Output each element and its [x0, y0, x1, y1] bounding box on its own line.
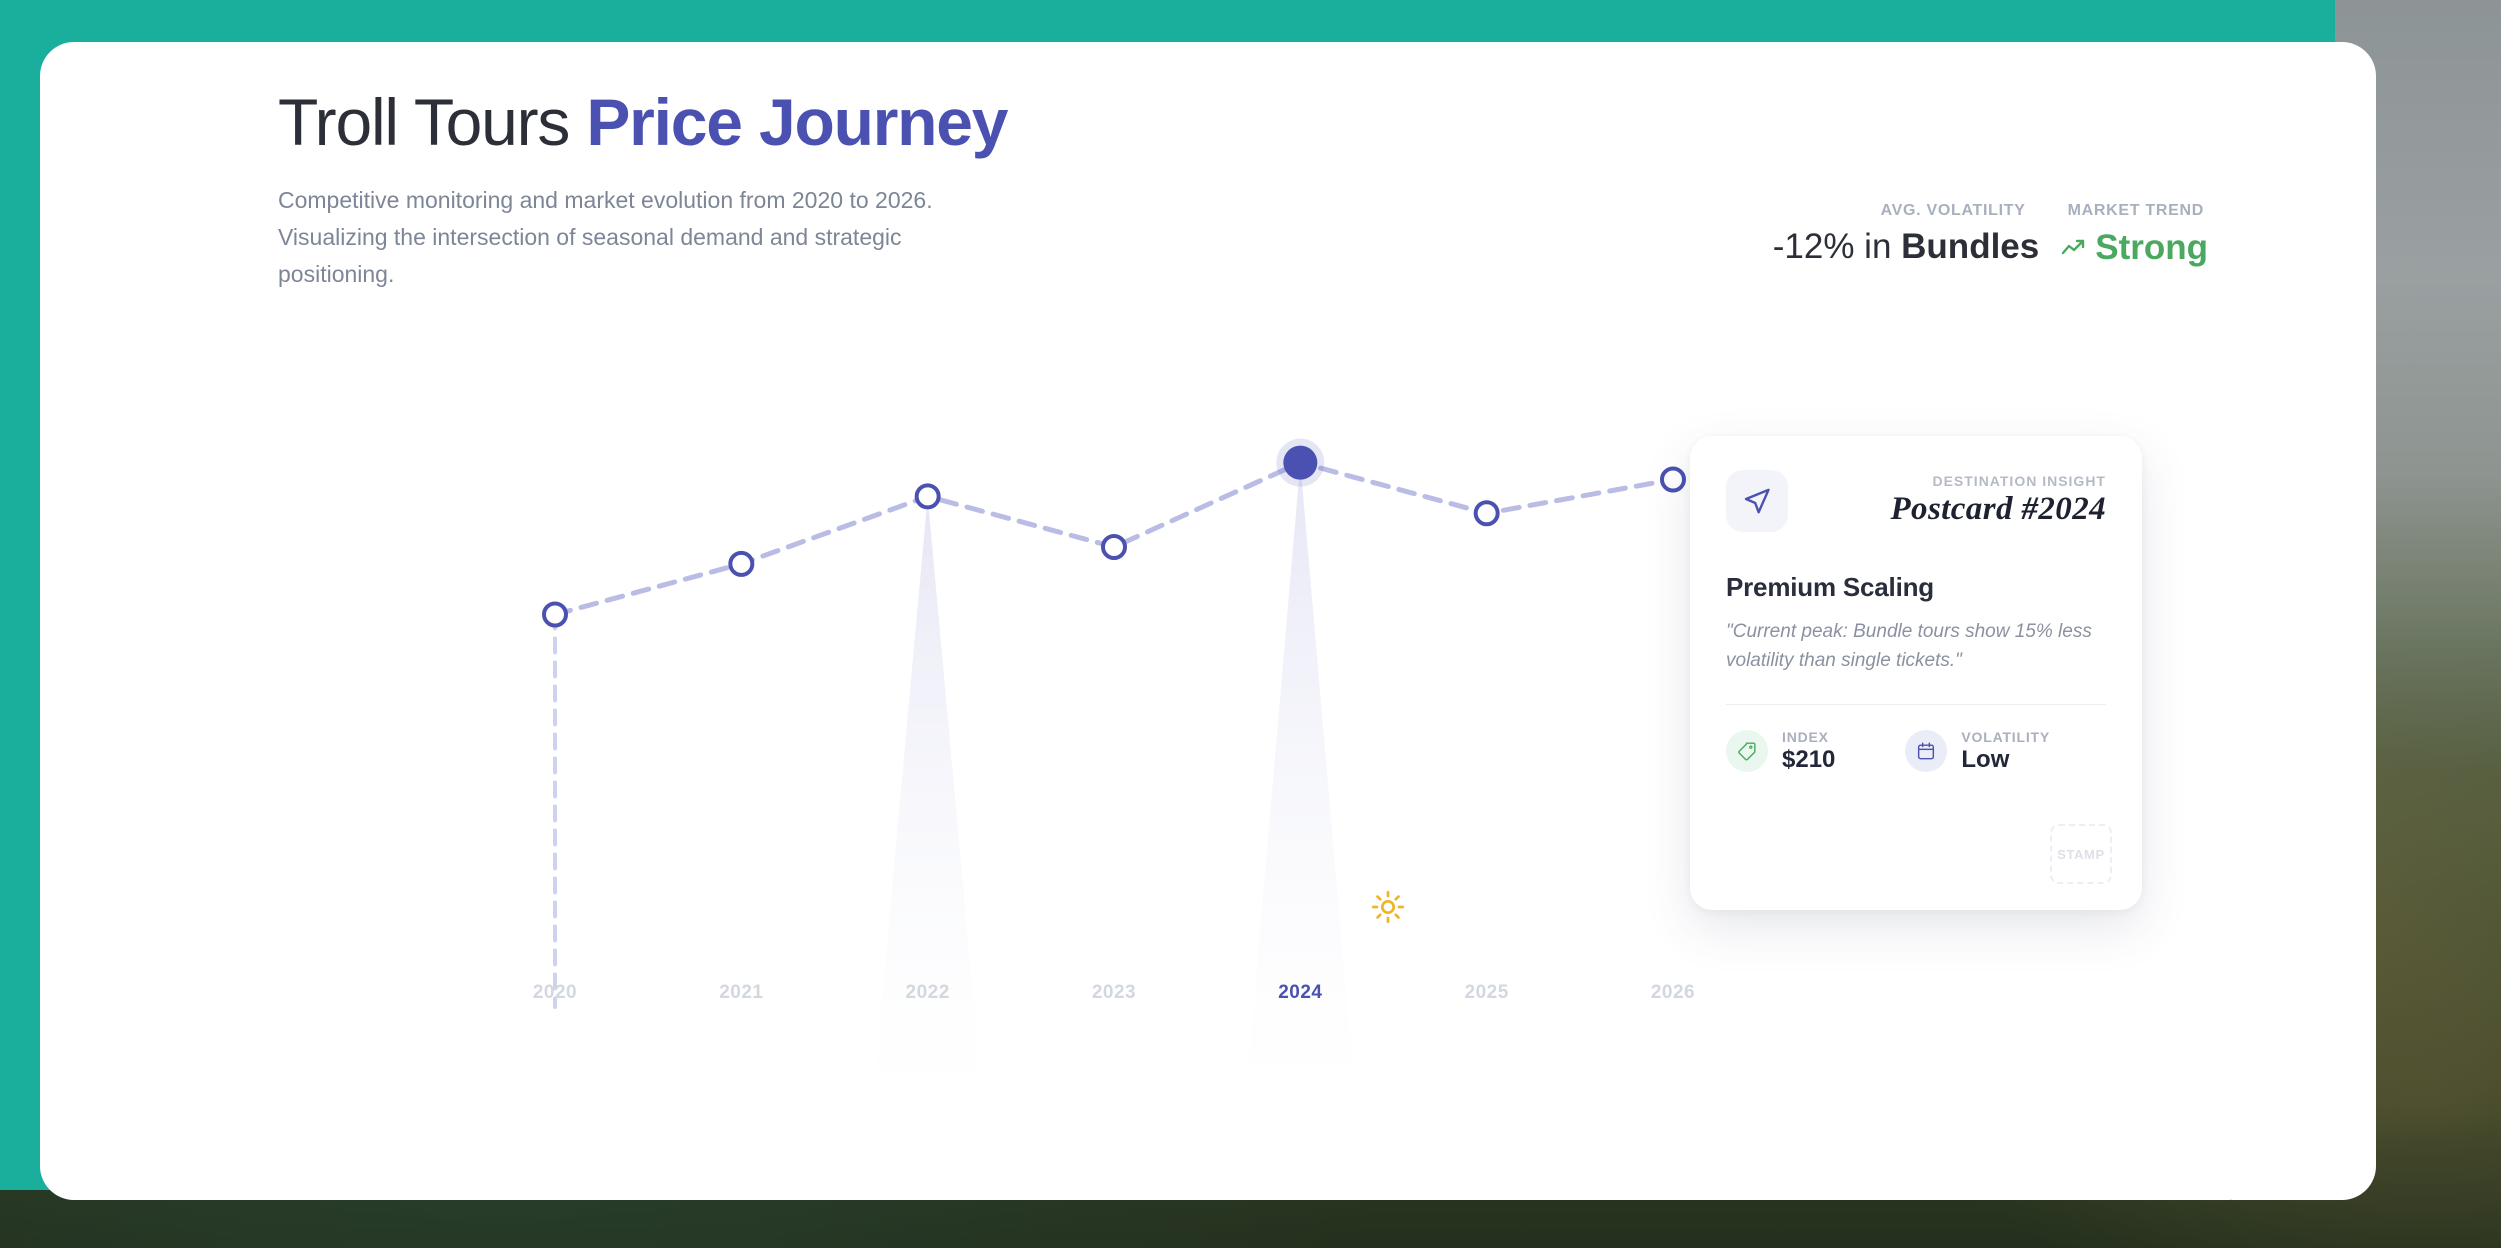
- page-title-accent: Price Journey: [586, 85, 1007, 159]
- kpi-trend-label: Strong: [2095, 228, 2208, 268]
- postcard-title: Premium Scaling: [1726, 572, 2106, 603]
- postcard-quote: "Current peak: Bundle tours show 15% les…: [1726, 617, 2106, 676]
- axis-tick-2025[interactable]: 2025: [1465, 982, 1509, 1004]
- axis-tick-2024[interactable]: 2024: [1278, 982, 1322, 1004]
- axis-tick-2021[interactable]: 2021: [719, 982, 763, 1004]
- postcard-divider: [1726, 704, 2106, 705]
- page-title-plain: Troll Tours: [278, 85, 586, 159]
- chart-beam-glow: [873, 496, 983, 1102]
- kpi-values: -12% in Bundles Strong: [1773, 227, 2208, 268]
- postcard-number: Postcard #2024: [1890, 491, 2106, 528]
- chart-marker[interactable]: [730, 553, 752, 575]
- header-block: Troll Tours Price Journey Competitive mo…: [278, 84, 1578, 294]
- tag-icon: [1726, 730, 1768, 772]
- postcard-insight-card[interactable]: DESTINATION INSIGHT Postcard #2024 Premi…: [1690, 436, 2142, 910]
- kpi-value-volatility: -12% in Bundles: [1773, 227, 2039, 267]
- chart-marker[interactable]: [544, 604, 566, 626]
- axis-tick-2023[interactable]: 2023: [1092, 982, 1136, 1004]
- main-panel: Troll Tours Price Journey Competitive mo…: [40, 42, 2376, 1200]
- kpi-volatility-strong: Bundles: [1901, 227, 2039, 266]
- page-title: Troll Tours Price Journey: [278, 84, 1578, 162]
- postcard-metric-volatility-label: VOLATILITY: [1961, 729, 2050, 745]
- scroll-up-caret-icon[interactable]: ^: [2226, 1197, 2236, 1200]
- chart-marker[interactable]: [1476, 502, 1498, 524]
- trending-up-icon: [2061, 238, 2087, 258]
- postcard-header: DESTINATION INSIGHT Postcard #2024: [1726, 470, 2106, 532]
- kpi-label-trend: MARKET TREND: [2068, 202, 2204, 220]
- kpi-value-trend: Strong: [2061, 228, 2208, 268]
- calendar-icon: [1905, 730, 1947, 772]
- postcard-metric-index: INDEX $210: [1726, 729, 1835, 774]
- postcard-eyebrow: DESTINATION INSIGHT: [1890, 473, 2106, 489]
- postcard-metric-volatility-value: Low: [1961, 746, 2050, 774]
- postcard-metric-index-value: $210: [1782, 746, 1835, 774]
- postcard-metrics: INDEX $210 VOLATILITY Low: [1726, 729, 2106, 774]
- chart-marker[interactable]: [917, 485, 939, 507]
- postcard-metric-index-label: INDEX: [1782, 729, 1835, 745]
- axis-tick-2022[interactable]: 2022: [906, 982, 950, 1004]
- chart-beam-glow: [1245, 463, 1355, 1102]
- postcard-metric-volatility: VOLATILITY Low: [1905, 729, 2050, 774]
- postcard-icon-badge: [1726, 470, 1788, 532]
- axis-tick-2026[interactable]: 2026: [1651, 982, 1695, 1004]
- kpi-strip: AVG. VOLATILITY MARKET TREND -12% in Bun…: [1773, 202, 2208, 268]
- postcard-header-text: DESTINATION INSIGHT Postcard #2024: [1890, 470, 2106, 528]
- axis-tick-2020[interactable]: 2020: [533, 982, 577, 1004]
- page-subtitle: Competitive monitoring and market evolut…: [278, 182, 978, 294]
- kpi-labels: AVG. VOLATILITY MARKET TREND: [1881, 202, 2208, 220]
- kpi-label-volatility: AVG. VOLATILITY: [1881, 202, 2026, 220]
- kpi-volatility-lead: -12% in: [1773, 227, 1901, 266]
- chart-markers: [544, 439, 1684, 626]
- navigation-arrow-icon: [1742, 486, 1772, 516]
- chart-marker[interactable]: [1662, 469, 1684, 491]
- postcard-stamp: STAMP: [2050, 824, 2112, 884]
- sun-icon: [1371, 890, 1405, 924]
- chart-marker[interactable]: [1103, 536, 1125, 558]
- chart-marker-active[interactable]: [1283, 446, 1317, 480]
